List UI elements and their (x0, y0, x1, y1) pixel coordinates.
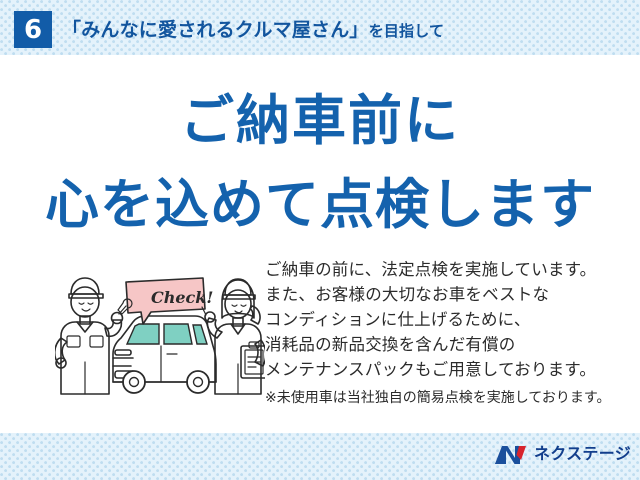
brand-name-label: ネクステージ (534, 447, 631, 463)
section-number-badge: 6 (14, 11, 52, 48)
mechanic-left (55, 278, 132, 394)
header-title-main: 「みんなに愛されるクルマ屋さん」 (62, 20, 369, 41)
mechanics-illustration: .ln{fill:none;stroke:#2b2b2b;stroke-widt… (55, 262, 265, 397)
headline-line-2: 心を込めて点検します (0, 176, 640, 234)
van-illustration (113, 316, 216, 393)
header-title: 「みんなに愛されるクルマ屋さん」を目指して (62, 15, 444, 42)
body-note: ※未使用車は当社独自の簡易点検を実施しております。 (265, 385, 625, 409)
body-line-5: メンテナンスパックもご用意しております。 (265, 358, 625, 383)
section-number-label: 6 (24, 17, 42, 43)
nextage-n-mark (494, 444, 528, 466)
body-line-2: また、お客様の大切なお車をベストな (265, 283, 625, 308)
header-title-tail: を目指して (369, 23, 445, 40)
check-bubble-text: Check! (151, 288, 213, 307)
body-line-4: 消耗品の新品交換を含んだ有償の (265, 333, 625, 358)
headline-line-1: ご納車前に (0, 92, 640, 150)
body-line-3: コンディションに仕上げるために、 (265, 308, 625, 333)
body-line-1: ご納車の前に、法定点検を実施しています。 (265, 258, 625, 283)
brand-logo: ネクステージ (494, 443, 631, 467)
promo-banner: 6 「みんなに愛されるクルマ屋さん」を目指して ご納車前に 心を込めて点検します… (0, 0, 640, 480)
body-copy: ご納車の前に、法定点検を実施しています。 また、お客様の大切なお車をベストな コ… (265, 258, 625, 409)
